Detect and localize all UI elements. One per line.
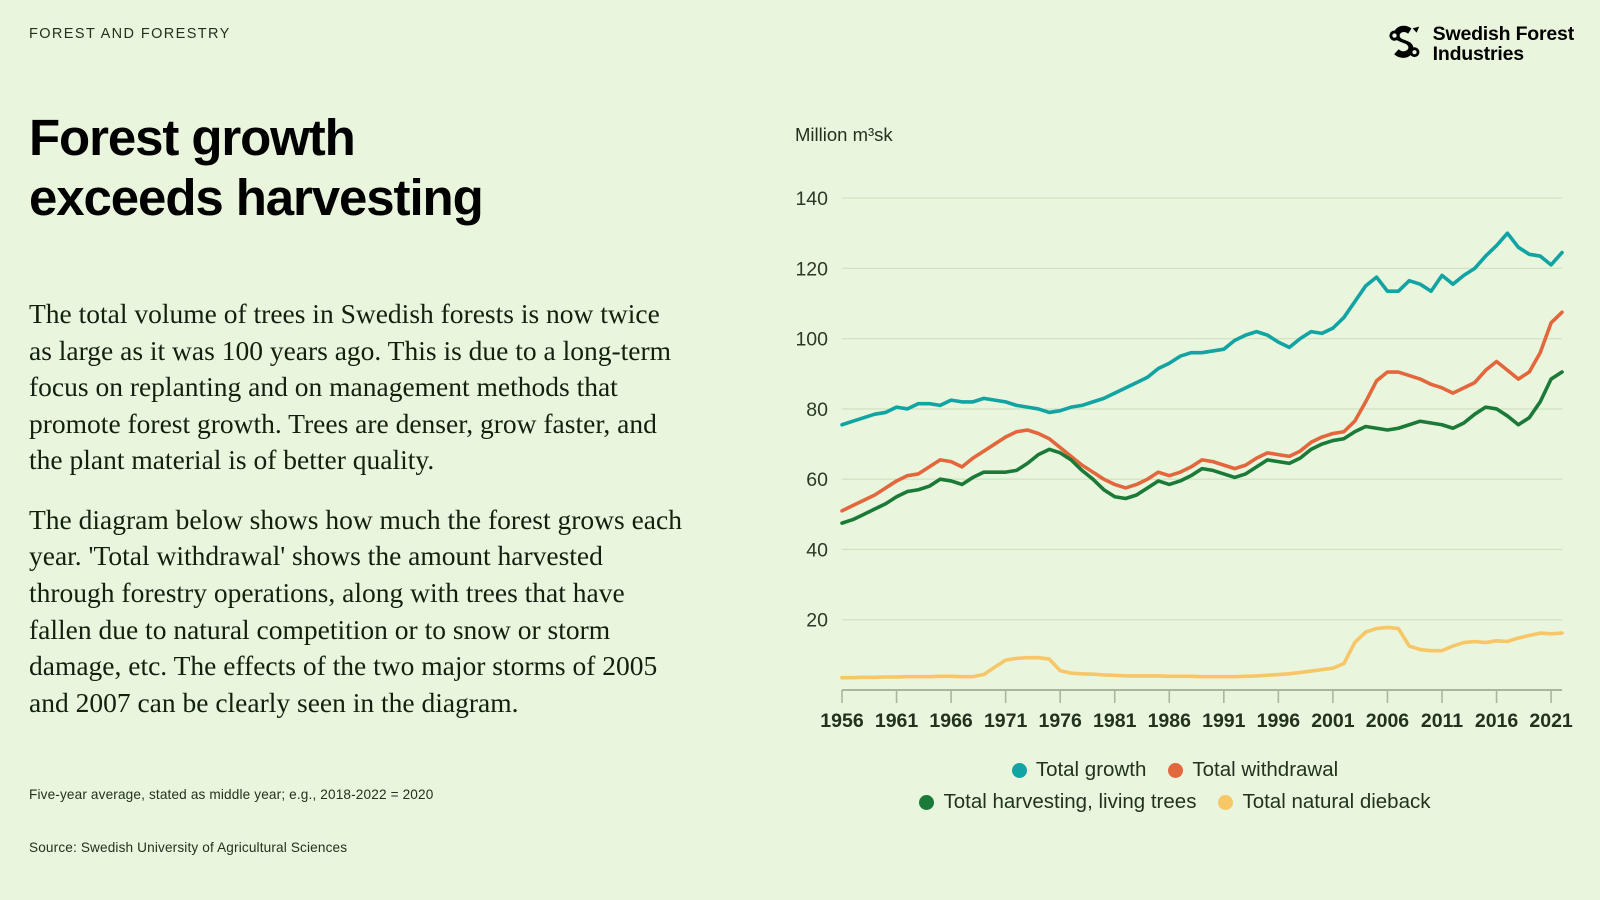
legend-dot-total-growth — [1012, 763, 1027, 778]
logo-wordmark: Swedish Forest Industries — [1433, 24, 1574, 64]
x-axis-tick-1996: 1996 — [1257, 710, 1301, 732]
series-line-total-natural-dieback — [842, 627, 1562, 677]
y-axis-tick-120: 120 — [795, 258, 828, 280]
legend-label-total-harvesting: Total harvesting, living trees — [943, 790, 1196, 814]
footnote-source: Source: Swedish University of Agricultur… — [29, 840, 433, 855]
footnote-average-method: Five-year average, stated as middle year… — [29, 787, 433, 802]
page-kicker: FOREST AND FORESTRY — [29, 26, 231, 42]
brand-logo: Swedish Forest Industries — [1385, 22, 1574, 66]
y-axis-tick-20: 20 — [806, 610, 828, 632]
legend-dot-total-harvesting — [919, 795, 934, 810]
body-copy: The total volume of trees in Swedish for… — [29, 296, 689, 721]
footnotes: Five-year average, stated as middle year… — [29, 787, 433, 855]
x-axis-tick-2001: 2001 — [1311, 710, 1355, 732]
x-axis-tick-1971: 1971 — [984, 710, 1028, 732]
x-axis-tick-2021: 2021 — [1529, 710, 1573, 732]
legend-item-total-natural-dieback[interactable]: Total natural dieback — [1218, 790, 1430, 814]
legend-item-total-harvesting[interactable]: Total harvesting, living trees — [919, 790, 1196, 814]
legend-item-total-withdrawal[interactable]: Total withdrawal — [1168, 758, 1338, 782]
legend-item-total-growth[interactable]: Total growth — [1012, 758, 1147, 782]
series-line-total-harvesting-living-trees — [842, 372, 1562, 523]
y-axis-unit-label: Million m³sk — [795, 124, 893, 146]
x-axis-tick-2006: 2006 — [1366, 710, 1410, 732]
legend-dot-total-withdrawal — [1168, 763, 1183, 778]
chart-legend: Total growth Total withdrawal Total harv… — [770, 758, 1580, 814]
x-axis-tick-1956: 1956 — [820, 710, 864, 732]
page-title: Forest growth exceeds harvesting — [29, 108, 709, 228]
x-axis-tick-1981: 1981 — [1093, 710, 1137, 732]
y-axis-tick-140: 140 — [795, 188, 828, 210]
chart-plot-area: 2040608010012014019561961196619711976198… — [770, 162, 1580, 762]
legend-dot-total-natural-dieback — [1218, 795, 1233, 810]
legend-label-total-natural-dieback: Total natural dieback — [1242, 790, 1430, 814]
x-axis-tick-1986: 1986 — [1148, 710, 1192, 732]
legend-label-total-growth: Total growth — [1036, 758, 1147, 782]
y-axis-tick-60: 60 — [806, 469, 828, 491]
swedish-forest-industries-s-mark — [1385, 22, 1425, 66]
x-axis-tick-1966: 1966 — [929, 710, 973, 732]
x-axis-tick-1961: 1961 — [875, 710, 919, 732]
x-axis-tick-1976: 1976 — [1038, 710, 1082, 732]
legend-row-2: Total harvesting, living trees Total nat… — [919, 790, 1430, 814]
x-axis-tick-2011: 2011 — [1421, 710, 1463, 732]
body-paragraph-2: The diagram below shows how much the for… — [29, 502, 689, 721]
y-axis-tick-80: 80 — [806, 399, 828, 421]
forest-growth-chart: Million m³sk 204060801001201401956196119… — [770, 110, 1580, 830]
x-axis-tick-2016: 2016 — [1475, 710, 1519, 732]
legend-row-1: Total growth Total withdrawal — [1012, 758, 1338, 782]
body-paragraph-1: The total volume of trees in Swedish for… — [29, 296, 689, 479]
series-line-total-growth — [842, 233, 1562, 424]
x-axis-tick-1991: 1991 — [1202, 710, 1246, 732]
infographic-page: FOREST AND FORESTRY Swedish Forest Indus… — [0, 0, 1600, 900]
y-axis-tick-40: 40 — [806, 539, 828, 561]
y-axis-tick-100: 100 — [795, 329, 828, 351]
legend-label-total-withdrawal: Total withdrawal — [1192, 758, 1338, 782]
